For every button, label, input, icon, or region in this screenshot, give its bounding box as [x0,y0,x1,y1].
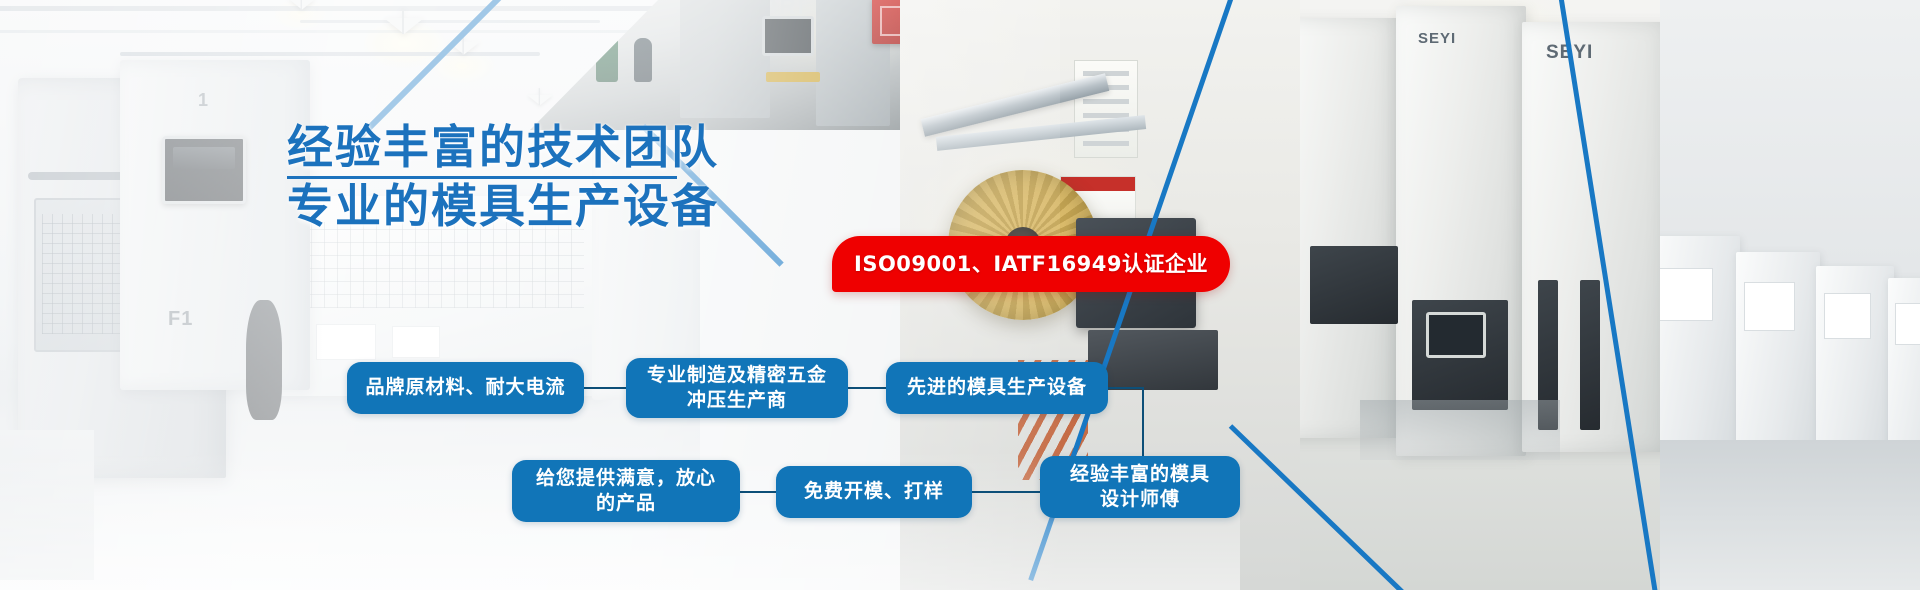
connector-line [1108,387,1144,389]
connector-line [740,491,778,493]
feature-box-manufacture[interactable]: 专业制造及精密五金 冲压生产商 [626,358,848,418]
feature-box-materials[interactable]: 品牌原材料、耐大电流 [347,362,584,414]
feature-label: 免费开模、打样 [790,479,958,504]
factory-capability-banner: 1 F1 KYORI SEYI SEYI [0,0,1920,590]
feature-label: 品牌原材料、耐大电流 [351,375,579,400]
feature-box-designer[interactable]: 经验丰富的模具 设计师傅 [1040,456,1240,518]
certification-badge: ISO09001、IATF16949认证企业 [832,236,1230,292]
feature-box-satisfy[interactable]: 给您提供满意，放心 的产品 [512,460,740,522]
headline-line-2: 专业的模具生产设备 [287,181,719,233]
feature-label: 经验丰富的模具 设计师傅 [1056,462,1224,512]
banner-headline: 经验丰富的技术团队 专业的模具生产设备 [287,122,719,232]
connector-line [584,387,628,389]
headline-line-1: 经验丰富的技术团队 [287,122,719,174]
connector-line [848,387,888,389]
feature-box-free-mold[interactable]: 免费开模、打样 [776,466,972,518]
certification-badge-label: ISO09001、IATF16949认证企业 [854,254,1208,275]
feature-box-equipment[interactable]: 先进的模具生产设备 [886,362,1108,414]
feature-label: 先进的模具生产设备 [893,375,1101,400]
feature-label: 专业制造及精密五金 冲压生产商 [633,363,841,413]
connector-line [972,491,1040,493]
feature-label: 给您提供满意，放心 的产品 [522,466,730,516]
